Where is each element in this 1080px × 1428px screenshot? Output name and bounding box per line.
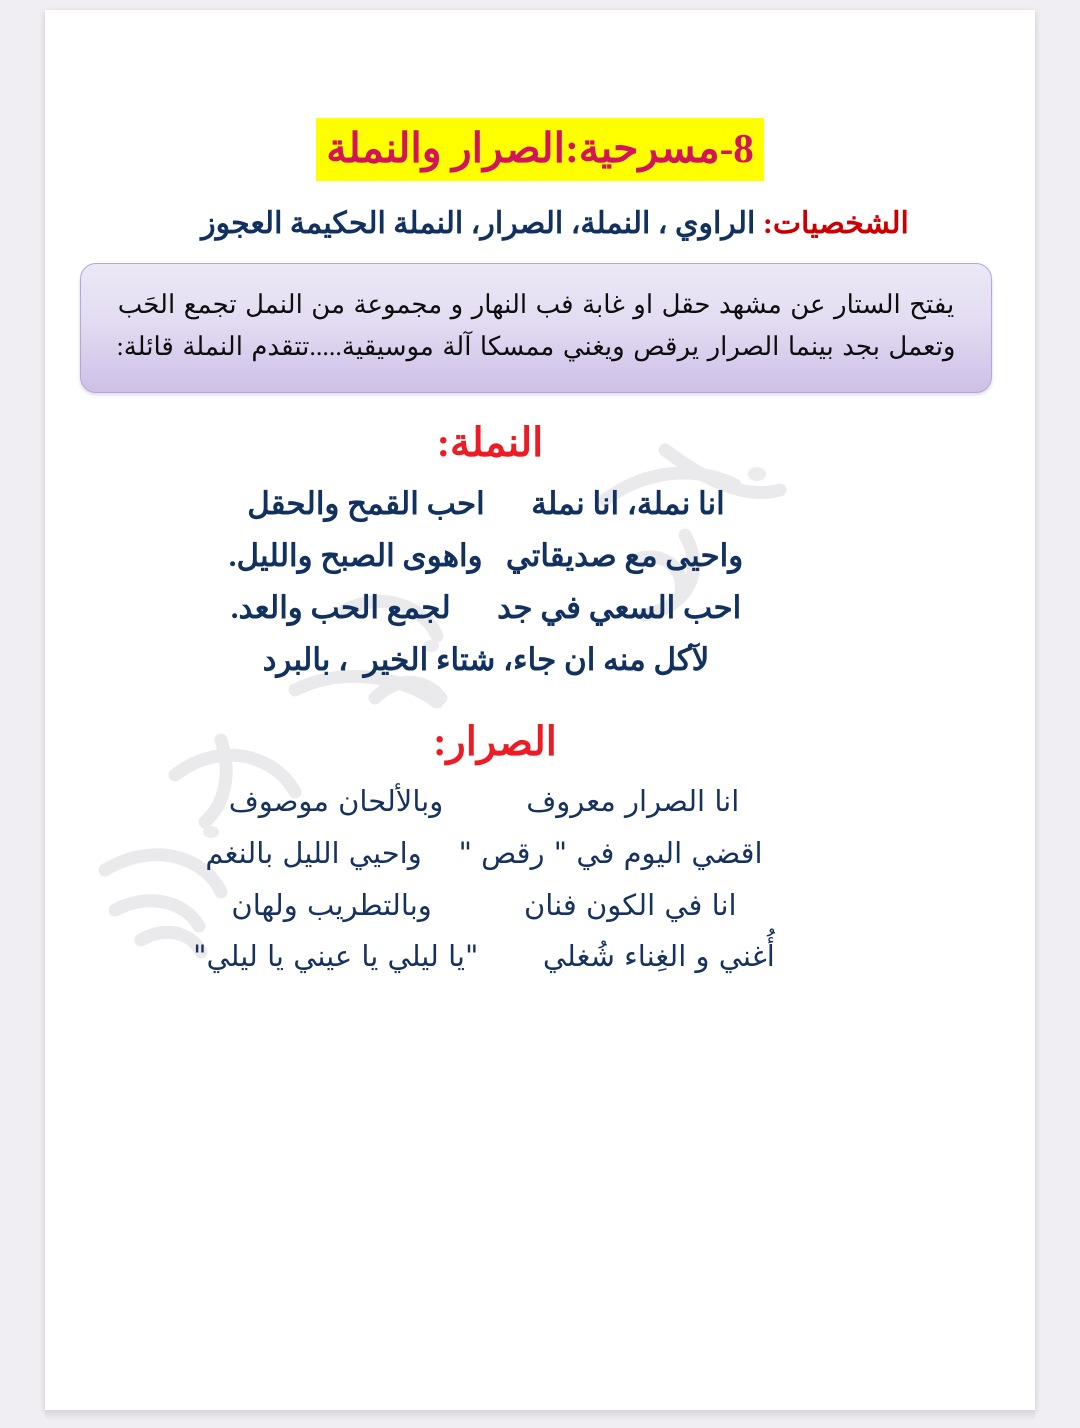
verse-line: واحيى مع صديقاتي واهوى الصبح والليل. (45, 530, 927, 582)
speaker-heading-cricket: الصرار: (45, 716, 945, 768)
verse-line: انا الصرار معروف وبالألحان موصوف (45, 776, 923, 828)
document-content: 8-مسرحية:الصرار والنملة الشخصيات: الراوي… (45, 118, 1035, 983)
verse-line: أُغني و الغِناء شُغلي "يا ليلي يا عيني ي… (45, 931, 923, 983)
characters-label: الشخصيات: (763, 207, 909, 240)
document-page: 8-مسرحية:الصرار والنملة الشخصيات: الراوي… (45, 10, 1035, 1410)
title-container: 8-مسرحية:الصرار والنملة (45, 118, 1035, 181)
verses-ant: انا نملة، انا نملة احب القمح والحقل واحي… (45, 478, 927, 686)
stage-direction-box: يفتح الستار عن مشهد حقل او غابة فب النها… (80, 263, 992, 393)
page-bottom-shadow (45, 1410, 1035, 1420)
verse-line: انا نملة، انا نملة احب القمح والحقل (45, 478, 927, 530)
speaker-heading-ant: النملة: (45, 417, 935, 469)
verse-line: انا في الكون فنان وبالتطريب ولهان (45, 880, 923, 932)
verse-line: اقضي اليوم في " رقص " واحيي الليل بالنغم (45, 828, 923, 880)
stage-direction-text: يفتح الستار عن مشهد حقل او غابة فب النها… (107, 284, 965, 368)
page-title: 8-مسرحية:الصرار والنملة (316, 118, 763, 181)
characters-line: الشخصيات: الراوي ، النملة، الصرار، النمل… (175, 203, 935, 246)
characters-list: الراوي ، النملة، الصرار، النملة الحكيمة … (201, 207, 763, 240)
verses-cricket: انا الصرار معروف وبالألحان موصوف اقضي ال… (45, 776, 923, 982)
verse-line: احب السعي في جد لجمع الحب والعد. (45, 582, 927, 634)
verse-line: لآكل منه ان جاء، شتاء الخير ، بالبرد (45, 634, 927, 686)
